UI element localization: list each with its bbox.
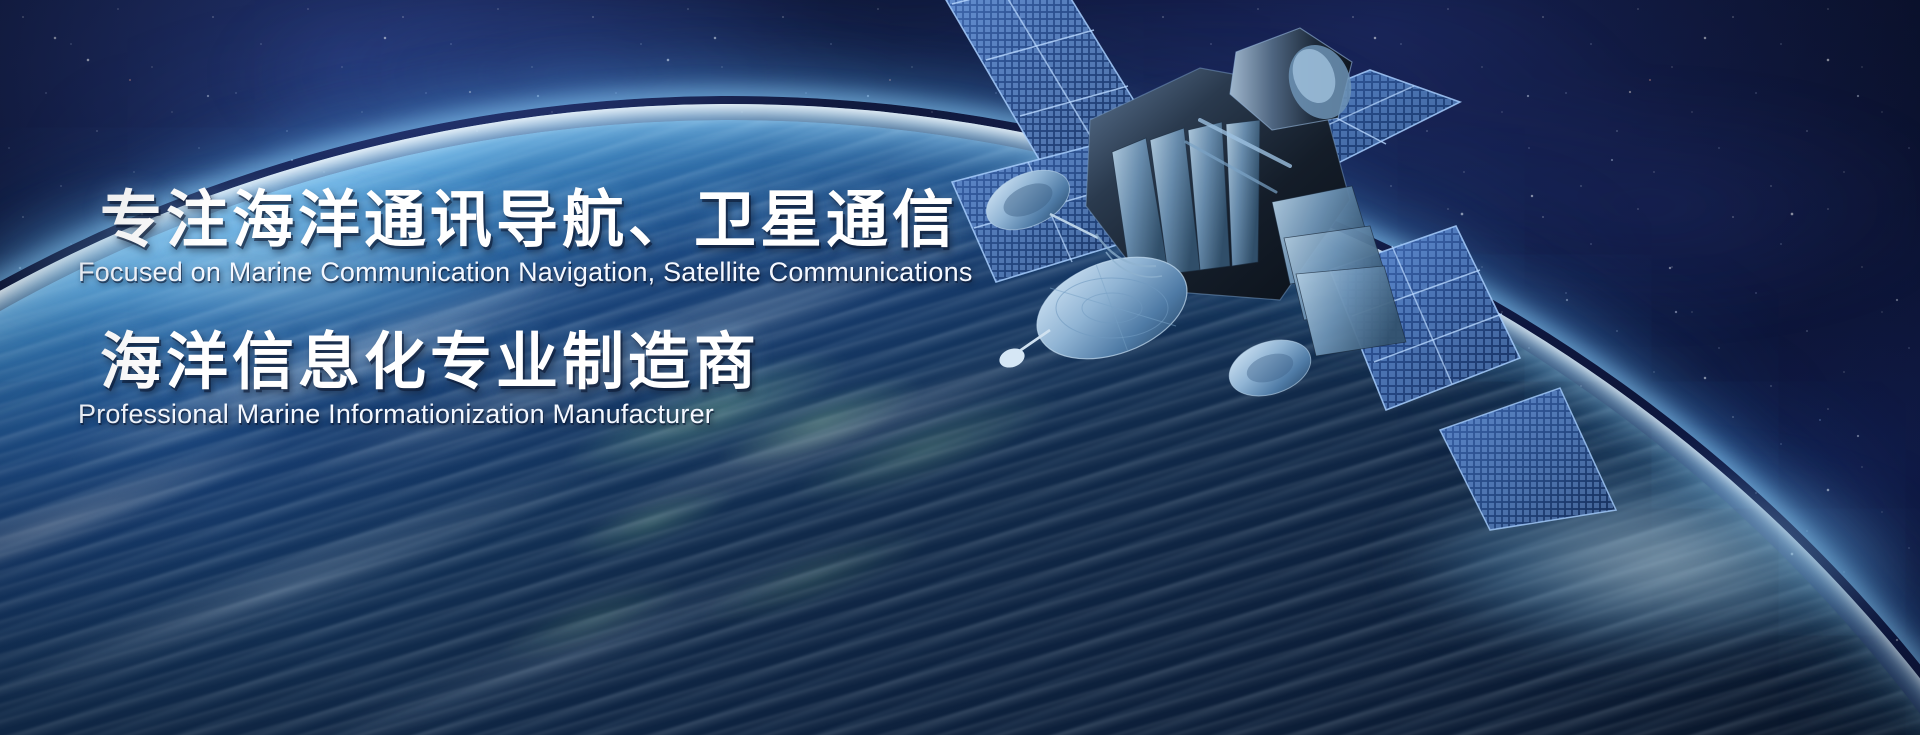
headline-cn-secondary: 海洋信息化专业制造商 xyxy=(100,330,760,393)
headline-en-secondary: Professional Marine Informationization M… xyxy=(78,400,760,430)
headline-en-primary: Focused on Marine Communication Navigati… xyxy=(78,258,973,288)
headline-group-primary: 专注海洋通讯导航、卫星通信 Focused on Marine Communic… xyxy=(78,188,973,288)
satellite-icon xyxy=(900,0,1640,530)
dish-antenna-small-lower xyxy=(1222,330,1318,405)
hero-banner: 专注海洋通讯导航、卫星通信 Focused on Marine Communic… xyxy=(0,0,1920,735)
solar-panel-far-lower-right xyxy=(1440,388,1616,530)
headline-cn-primary: 专注海洋通讯导航、卫星通信 xyxy=(100,188,973,251)
headline-group-secondary: 海洋信息化专业制造商 Professional Marine Informati… xyxy=(78,330,760,430)
